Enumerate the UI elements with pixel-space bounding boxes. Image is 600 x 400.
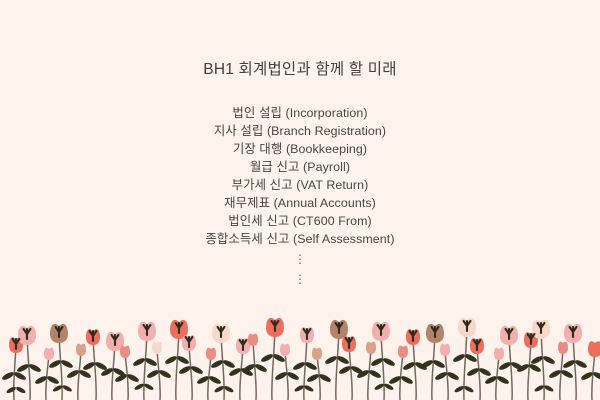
flower-border-decoration [0,310,600,400]
list-item: 지사 설립 (Branch Registration) [0,122,600,140]
vertical-ellipsis-icon: ⋮ [0,249,600,269]
list-item: 종합소득세 신고 (Self Assessment) [0,230,600,248]
list-item: 법인세 신고 (CT600 From) [0,212,600,230]
list-item: 부가세 신고 (VAT Return) [0,176,600,194]
list-item: 재무제표 (Annual Accounts) [0,194,600,212]
page-title: BH1 회계법인과 함께 할 미래 [0,60,600,80]
continuation-marks: ⋮ ⋮ [0,249,600,289]
vertical-ellipsis-icon: ⋮ [0,269,600,289]
slide-canvas: BH1 회계법인과 함께 할 미래 법인 설립 (Incorporation) … [0,0,600,400]
list-item: 법인 설립 (Incorporation) [0,104,600,122]
list-item: 기장 대행 (Bookkeeping) [0,140,600,158]
service-list: 법인 설립 (Incorporation) 지사 설립 (Branch Regi… [0,104,600,248]
list-item: 월급 신고 (Payroll) [0,158,600,176]
